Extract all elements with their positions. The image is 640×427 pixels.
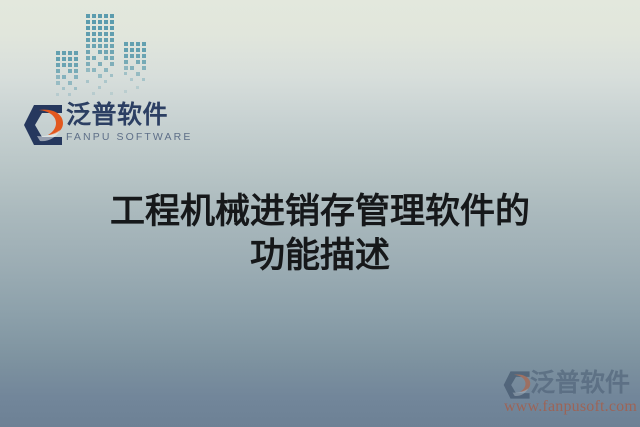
fanpu-hexagon-swoosh-logo-icon — [22, 103, 68, 147]
slide-canvas: 泛普软件 FANPU SOFTWARE 工程机械进销存管理软件的 功能描述 泛普… — [0, 0, 640, 427]
watermark-url: www.fanpusoft.com — [504, 397, 637, 416]
brand-logo: 泛普软件 FANPU SOFTWARE — [22, 101, 182, 153]
page-title-line-1: 工程机械进销存管理软件的 — [0, 190, 640, 234]
pixel-building-skyline-icon — [52, 8, 160, 100]
brand-name-cn: 泛普软件 — [66, 101, 182, 129]
page-title: 工程机械进销存管理软件的 功能描述 — [0, 190, 640, 278]
page-title-line-2: 功能描述 — [0, 234, 640, 278]
brand-name-en: FANPU SOFTWARE — [66, 130, 182, 144]
brand-logo-text: 泛普软件 FANPU SOFTWARE — [66, 101, 182, 151]
watermark: 泛普软件 www.fanpusoft.com — [498, 368, 638, 420]
watermark-brand-name: 泛普软件 — [530, 368, 630, 398]
